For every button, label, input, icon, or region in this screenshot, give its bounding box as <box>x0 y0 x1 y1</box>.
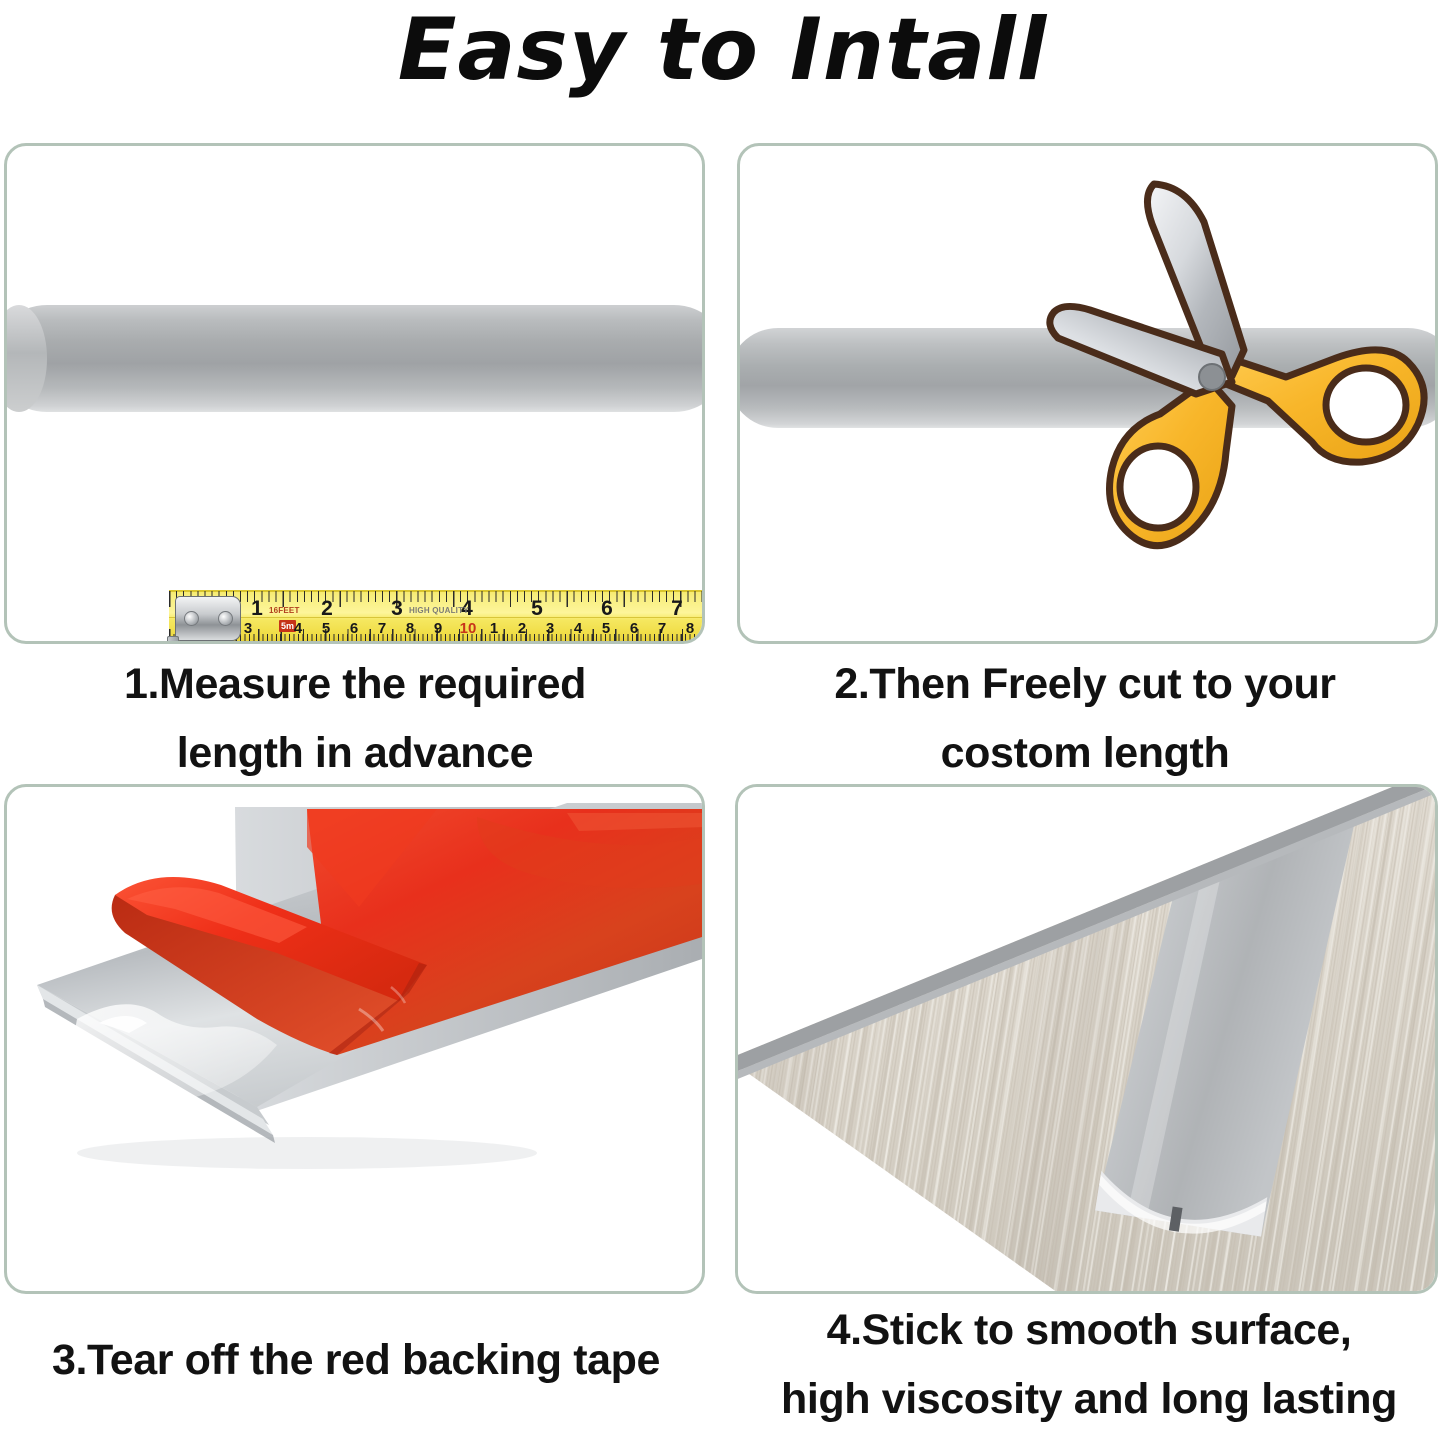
scissors-handle-bottom <box>1110 374 1233 546</box>
tape-measure-hook <box>175 596 241 641</box>
tape-inch-label: 1 <box>251 599 263 619</box>
step-2-caption: 2.Then Freely cut to your costom length <box>740 650 1430 788</box>
tape-cm-label: 5 <box>322 619 330 639</box>
tape-hook-rivet <box>184 611 199 626</box>
tape-measure-shadow <box>179 643 705 644</box>
scissors-pivot-icon <box>1199 364 1225 390</box>
tape-cm-label-highlight: 10 <box>460 619 477 639</box>
tape-cm-label: 6 <box>350 619 358 639</box>
tape-cm-scale: 2 3 4 5 6 7 8 9 10 1 2 3 4 5 6 7 8 9 <box>169 619 705 639</box>
tape-cm-label: 4 <box>294 619 302 639</box>
peel-tape-illustration <box>7 787 705 1294</box>
step-4-image-panel <box>735 784 1438 1294</box>
tape-cm-label: 3 <box>244 619 252 639</box>
step-1-image-panel: 1 2 3 4 5 6 7 16FEET HIGH QUALITY 5m 2 3… <box>4 143 705 644</box>
tape-inch-label: 6 <box>601 599 613 619</box>
tape-measure-end-tab <box>167 636 179 644</box>
installed-strip-illustration <box>738 787 1438 1294</box>
scissors-icon <box>1036 162 1438 632</box>
tape-quality-text: HIGH QUALITY <box>409 606 469 615</box>
tape-brand-text: 16FEET <box>269 606 300 615</box>
tape-hook-rivet <box>218 611 233 626</box>
tape-cm-label: 3 <box>546 619 554 639</box>
tape-measure-illustration: 1 2 3 4 5 6 7 16FEET HIGH QUALITY 5m 2 3… <box>169 590 705 644</box>
step-2-image-panel <box>737 143 1438 644</box>
tape-cm-label: 2 <box>518 619 526 639</box>
tape-cm-label: 7 <box>658 619 666 639</box>
tape-cm-label: 6 <box>630 619 638 639</box>
step-4-caption: 4.Stick to smooth surface, high viscosit… <box>733 1296 1445 1434</box>
tape-cm-label: 4 <box>574 619 582 639</box>
tape-cm-label: 7 <box>378 619 386 639</box>
step-1-caption: 1.Measure the required length in advance <box>10 650 700 788</box>
tape-cm-label: 8 <box>686 619 694 639</box>
tape-cm-label: 9 <box>434 619 442 639</box>
page-title: Easy to Intall <box>0 2 1445 98</box>
step-3-caption: 3.Tear off the red backing tape <box>0 1326 712 1395</box>
tape-inch-label: 5 <box>531 599 543 619</box>
tape-inch-label: 2 <box>321 599 333 619</box>
tape-cm-label: 8 <box>406 619 414 639</box>
tape-inch-label: 3 <box>391 599 403 619</box>
gray-strip-illustration <box>4 305 705 412</box>
tape-cm-label: 1 <box>490 619 498 639</box>
tape-cm-label: 5 <box>602 619 610 639</box>
step-3-image-panel <box>4 784 705 1294</box>
tape-inch-label: 7 <box>671 599 683 619</box>
